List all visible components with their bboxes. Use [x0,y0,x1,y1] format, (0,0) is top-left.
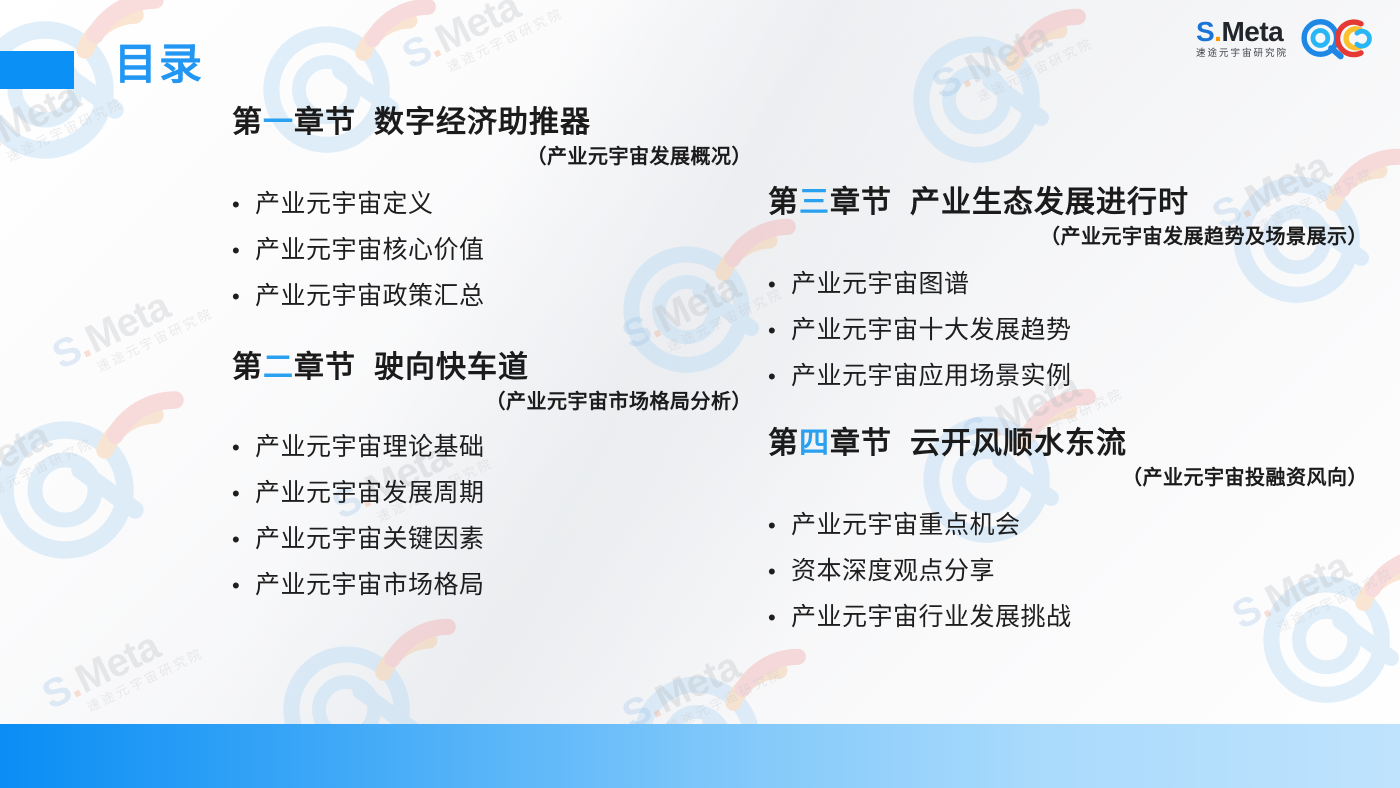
chapter-2-number: 二 [263,351,294,384]
chapter-3-heading: 第三章节产业生态发展进行时 [768,184,1368,222]
chapter-4-suffix: 章节 [830,427,892,460]
list-item-label: 产业元宇宙图谱 [791,272,970,297]
list-item-label: 资本深度观点分享 [791,559,995,584]
list-item[interactable]: •产业元宇宙重点机会 [768,513,1368,538]
watermark-wordmark: S.Meta 速途元宇宙研究院 [0,397,97,520]
list-item[interactable]: •产业元宇宙行业发展挑战 [768,605,1368,630]
chapter-4-heading: 第四章节云开风顺水东流 [768,425,1368,463]
list-item[interactable]: •产业元宇宙理论基础 [232,435,752,460]
chapter-3-title: 产业生态发展进行时 [910,186,1189,219]
logo-letter-meta: Meta [1221,16,1283,47]
watermark-wordmark: S.Meta 速途元宇宙研究院 [45,267,216,390]
list-item[interactable]: •产业元宇宙政策汇总 [232,284,752,309]
list-item[interactable]: •产业元宇宙核心价值 [232,238,752,263]
list-item-label: 产业元宇宙定义 [255,192,434,217]
bullet-icon: • [232,240,248,262]
watermark-logo-mark [0,0,190,210]
chapter-4-number: 四 [799,427,830,460]
footer-bar [0,724,1400,788]
chapter-4-subtitle: （产业元宇宙投融资风向） [768,465,1368,491]
chapter-4: 第四章节云开风顺水东流 （产业元宇宙投融资风向） •产业元宇宙重点机会 •资本深… [768,425,1368,630]
chapter-2-suffix: 章节 [294,351,356,384]
bullet-icon: • [768,320,784,342]
toc-column-left: 第一章节数字经济助推器 （产业元宇宙发展概况） •产业元宇宙定义 •产业元宇宙核… [232,104,752,619]
chapter-2-title: 驶向快车道 [374,351,529,384]
chapter-1: 第一章节数字经济助推器 （产业元宇宙发展概况） •产业元宇宙定义 •产业元宇宙核… [232,104,752,309]
slide-canvas: S.Meta 速途元宇宙研究院 S.Meta 速途元宇宙研究院 S.Meta 速… [0,0,1400,788]
list-item[interactable]: •产业元宇宙图谱 [768,272,1368,297]
list-item-label: 产业元宇宙市场格局 [255,573,485,598]
chapter-3-prefix: 第 [768,186,799,219]
page-title: 目录 [114,44,204,87]
list-item[interactable]: •产业元宇宙定义 [232,192,752,217]
watermark-wordmark: S.Meta 速途元宇宙研究院 [35,607,206,730]
chapter-2-heading: 第二章节驶向快车道 [232,349,752,387]
chapter-1-prefix: 第 [232,106,263,139]
bullet-icon: • [768,366,784,388]
brand-logo: S.Meta 速途元宇宙研究院 [1196,14,1384,62]
logo-letter-s: S [1196,16,1214,47]
chapter-1-subtitle: （产业元宇宙发展概况） [232,144,752,170]
chapter-4-title: 云开风顺水东流 [910,427,1127,460]
bullet-icon: • [232,483,248,505]
logo-subtitle: 速途元宇宙研究院 [1196,49,1288,59]
list-item[interactable]: •产业元宇宙关键因素 [232,527,752,552]
bullet-icon: • [768,274,784,296]
bullet-icon: • [232,529,248,551]
list-item-label: 产业元宇宙十大发展趋势 [791,318,1072,343]
chapter-3-bullet-list: •产业元宇宙图谱 •产业元宇宙十大发展趋势 •产业元宇宙应用场景实例 [768,272,1368,389]
chapter-2-bullet-list: •产业元宇宙理论基础 •产业元宇宙发展周期 •产业元宇宙关键因素 •产业元宇宙市… [232,435,752,598]
chapter-4-prefix: 第 [768,427,799,460]
logo-mark-icon [1296,14,1384,62]
chapter-1-title: 数字经济助推器 [374,106,591,139]
list-item[interactable]: •产业元宇宙发展周期 [232,481,752,506]
watermark-logo-mark [880,0,1110,210]
list-item[interactable]: •资本深度观点分享 [768,559,1368,584]
bullet-icon: • [232,575,248,597]
chapter-2: 第二章节驶向快车道 （产业元宇宙市场格局分析） •产业元宇宙理论基础 •产业元宇… [232,349,752,598]
bullet-icon: • [768,607,784,629]
watermark-wordmark: S.Meta 速途元宇宙研究院 [925,0,1096,121]
watermark-logo-mark [0,360,210,610]
list-item-label: 产业元宇宙应用场景实例 [791,364,1072,389]
list-item-label: 产业元宇宙核心价值 [255,238,485,263]
chapter-1-bullet-list: •产业元宇宙定义 •产业元宇宙核心价值 •产业元宇宙政策汇总 [232,192,752,309]
list-item[interactable]: •产业元宇宙十大发展趋势 [768,318,1368,343]
list-item-label: 产业元宇宙重点机会 [791,513,1021,538]
list-item-label: 产业元宇宙政策汇总 [255,284,485,309]
list-item-label: 产业元宇宙发展周期 [255,481,485,506]
chapter-2-subtitle: （产业元宇宙市场格局分析） [232,389,752,415]
list-item[interactable]: •产业元宇宙市场格局 [232,573,752,598]
list-item[interactable]: •产业元宇宙应用场景实例 [768,364,1368,389]
bullet-icon: • [232,286,248,308]
logo-wordmark: S.Meta 速途元宇宙研究院 [1196,18,1288,59]
chapter-1-heading: 第一章节数字经济助推器 [232,104,752,142]
list-item-label: 产业元宇宙理论基础 [255,435,485,460]
bullet-icon: • [768,561,784,583]
chapter-3-number: 三 [799,186,830,219]
bullet-icon: • [232,194,248,216]
bullet-icon: • [768,515,784,537]
chapter-2-prefix: 第 [232,351,263,384]
chapter-4-bullet-list: •产业元宇宙重点机会 •资本深度观点分享 •产业元宇宙行业发展挑战 [768,513,1368,630]
title-accent-bar [0,51,74,89]
chapter-1-number: 一 [263,106,294,139]
toc-column-right: 第三章节产业生态发展进行时 （产业元宇宙发展趋势及场景展示） •产业元宇宙图谱 … [768,184,1368,651]
watermark-wordmark: S.Meta 速途元宇宙研究院 [395,0,566,91]
list-item-label: 产业元宇宙关键因素 [255,527,485,552]
bullet-icon: • [232,437,248,459]
chapter-3-subtitle: （产业元宇宙发展趋势及场景展示） [768,224,1368,250]
chapter-3: 第三章节产业生态发展进行时 （产业元宇宙发展趋势及场景展示） •产业元宇宙图谱 … [768,184,1368,389]
list-item-label: 产业元宇宙行业发展挑战 [791,605,1072,630]
chapter-3-suffix: 章节 [830,186,892,219]
chapter-1-suffix: 章节 [294,106,356,139]
